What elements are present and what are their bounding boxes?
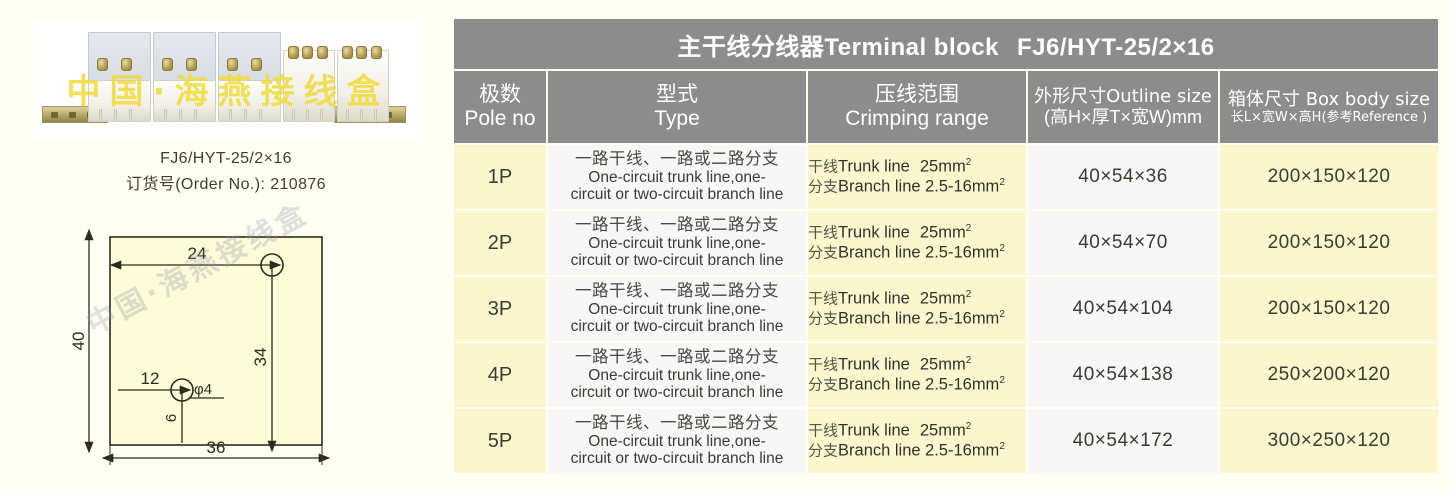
table-row: 5P 一路干线、一路或二路分支 One-circuit trunk line,o… bbox=[454, 409, 1438, 473]
crimp-trunk-sup: 2 bbox=[966, 421, 972, 432]
cell-crimping-range: 干线Trunk line25mm2 分支Branch line 2.5-16mm… bbox=[808, 277, 1026, 341]
crimp-trunk-en: Trunk line bbox=[838, 421, 910, 439]
technical-drawing: 36 40 24 34 12 6 bbox=[72, 222, 372, 472]
crimp-trunk-en: Trunk line bbox=[838, 157, 910, 175]
crimp-branch-value: 2.5-16mm bbox=[925, 441, 999, 459]
product-model-label: FJ6/HYT-25/2×16 bbox=[0, 146, 452, 172]
cell-type: 一路干线、一路或二路分支 One-circuit trunk line,one-… bbox=[548, 409, 806, 473]
cell-type: 一路干线、一路或二路分支 One-circuit trunk line,one-… bbox=[548, 211, 806, 275]
table-title-cn: 主干线分线器 bbox=[677, 33, 824, 61]
crimp-branch-cn: 分支 bbox=[808, 243, 838, 261]
cell-outline-size: 40×54×36 bbox=[1028, 145, 1218, 209]
spec-table: 主干线分线器Terminal blockFJ6/HYT-25/2×16 极数 P… bbox=[452, 17, 1440, 475]
header-box-body-size-cn: 箱体尺寸 Box body size bbox=[1220, 89, 1438, 110]
crimp-branch-value: 2.5-16mm bbox=[925, 243, 999, 261]
header-type-en: Type bbox=[548, 107, 806, 132]
cell-type-en-1: One-circuit trunk line,one- bbox=[548, 235, 806, 252]
product-caption: FJ6/HYT-25/2×16 订货号(Order No.): 210876 bbox=[0, 146, 452, 198]
crimp-branch-value: 2.5-16mm bbox=[925, 309, 999, 327]
cell-type-en-2: circuit or two-circuit branch line bbox=[548, 318, 806, 335]
table-row: 3P 一路干线、一路或二路分支 One-circuit trunk line,o… bbox=[454, 277, 1438, 341]
cell-type-en-2: circuit or two-circuit branch line bbox=[548, 252, 806, 269]
header-pole-no-cn: 极数 bbox=[454, 82, 546, 107]
terminal-body-1 bbox=[88, 80, 151, 122]
dim-36-label: 36 bbox=[207, 438, 226, 457]
crimp-trunk-value: 25mm bbox=[920, 289, 966, 307]
header-type: 型式 Type bbox=[548, 71, 806, 143]
cell-box-body-size: 300×250×120 bbox=[1220, 409, 1438, 473]
dim-6-label: 6 bbox=[163, 414, 180, 422]
cell-crimping-range: 干线Trunk line25mm2 分支Branch line 2.5-16mm… bbox=[808, 145, 1026, 209]
cell-type-cn: 一路干线、一路或二路分支 bbox=[548, 150, 806, 168]
cell-outline-size: 40×54×70 bbox=[1028, 211, 1218, 275]
header-box-body-size: 箱体尺寸 Box body size 长L×宽W×高H(参考Reference … bbox=[1220, 71, 1438, 143]
crimp-branch-value: 2.5-16mm bbox=[925, 177, 999, 195]
table-row: 1P 一路干线、一路或二路分支 One-circuit trunk line,o… bbox=[454, 145, 1438, 209]
header-outline-size-cn: 外形尺寸Outline size bbox=[1028, 86, 1218, 107]
cell-type-en-2: circuit or two-circuit branch line bbox=[548, 384, 806, 401]
cell-pole-no: 4P bbox=[454, 343, 546, 407]
crimp-trunk-en: Trunk line bbox=[838, 223, 910, 241]
cell-type-cn: 一路干线、一路或二路分支 bbox=[548, 348, 806, 366]
cell-box-body-size: 200×150×120 bbox=[1220, 145, 1438, 209]
crimp-branch-sup: 2 bbox=[999, 177, 1005, 188]
crimp-branch-en: Branch line bbox=[838, 309, 921, 327]
table-title-model: FJ6/HYT-25/2×16 bbox=[1017, 34, 1215, 61]
terminal-body-3 bbox=[218, 80, 281, 122]
header-crimping-range-en: Crimping range bbox=[808, 107, 1026, 132]
crimp-branch-cn: 分支 bbox=[808, 375, 838, 393]
header-outline-size-sub: (高H×厚T×宽W)mm bbox=[1028, 107, 1218, 128]
page-root: 中国·海燕接线盒 FJ6/HYT-25/2×16 订货号(Order No.):… bbox=[0, 0, 1452, 492]
header-box-body-size-sub: 长L×宽W×高H(参考Reference ) bbox=[1220, 110, 1438, 125]
crimp-trunk-sup: 2 bbox=[966, 223, 972, 234]
cell-pole-no: 5P bbox=[454, 409, 546, 473]
cell-type-en-2: circuit or two-circuit branch line bbox=[548, 186, 806, 203]
cell-type-cn: 一路干线、一路或二路分支 bbox=[548, 216, 806, 234]
cell-box-body-size: 250×200×120 bbox=[1220, 343, 1438, 407]
cell-type-en-1: One-circuit trunk line,one- bbox=[548, 169, 806, 186]
product-panel: 中国·海燕接线盒 FJ6/HYT-25/2×16 订货号(Order No.):… bbox=[0, 0, 452, 492]
header-crimping-range: 压线范围 Crimping range bbox=[808, 71, 1026, 143]
crimp-trunk-sup: 2 bbox=[966, 289, 972, 300]
crimp-branch-sup: 2 bbox=[999, 243, 1005, 254]
cell-pole-no: 1P bbox=[454, 145, 546, 209]
crimp-trunk-value: 25mm bbox=[920, 223, 966, 241]
crimp-branch-cn: 分支 bbox=[808, 177, 838, 195]
crimp-trunk-value: 25mm bbox=[920, 355, 966, 373]
crimp-branch-cn: 分支 bbox=[808, 441, 838, 459]
cell-type: 一路干线、一路或二路分支 One-circuit trunk line,one-… bbox=[548, 343, 806, 407]
cell-type-en-1: One-circuit trunk line,one- bbox=[548, 367, 806, 384]
crimp-trunk-cn: 干线 bbox=[808, 223, 838, 241]
crimp-branch-en: Branch line bbox=[838, 243, 921, 261]
hole-diameter-label: φ4 bbox=[194, 381, 212, 398]
cell-type-en-2: circuit or two-circuit branch line bbox=[548, 450, 806, 467]
terminal-body-2 bbox=[153, 80, 216, 122]
dim-24-label: 24 bbox=[188, 244, 207, 263]
cell-type-en-1: One-circuit trunk line,one- bbox=[548, 433, 806, 450]
table-row: 4P 一路干线、一路或二路分支 One-circuit trunk line,o… bbox=[454, 343, 1438, 407]
crimp-branch-sup: 2 bbox=[999, 441, 1005, 452]
cell-type-cn: 一路干线、一路或二路分支 bbox=[548, 282, 806, 300]
terminal-body-5 bbox=[337, 50, 389, 122]
table-row: 2P 一路干线、一路或二路分支 One-circuit trunk line,o… bbox=[454, 211, 1438, 275]
table-title-row: 主干线分线器Terminal blockFJ6/HYT-25/2×16 bbox=[454, 19, 1438, 69]
cell-box-body-size: 200×150×120 bbox=[1220, 211, 1438, 275]
crimp-branch-value: 2.5-16mm bbox=[925, 375, 999, 393]
crimp-trunk-cn: 干线 bbox=[808, 355, 838, 373]
crimp-branch-cn: 分支 bbox=[808, 309, 838, 327]
crimp-trunk-en: Trunk line bbox=[838, 289, 910, 307]
crimp-trunk-cn: 干线 bbox=[808, 421, 838, 439]
cell-outline-size: 40×54×138 bbox=[1028, 343, 1218, 407]
cell-box-body-size: 200×150×120 bbox=[1220, 277, 1438, 341]
dim-12-label: 12 bbox=[141, 369, 160, 388]
drawing-svg: 36 40 24 34 12 6 bbox=[72, 222, 372, 472]
crimp-trunk-cn: 干线 bbox=[808, 289, 838, 307]
cell-type-en-1: One-circuit trunk line,one- bbox=[548, 301, 806, 318]
crimp-branch-en: Branch line bbox=[838, 375, 921, 393]
crimp-trunk-sup: 2 bbox=[966, 355, 972, 366]
terminal-body-4 bbox=[283, 50, 335, 122]
crimp-trunk-value: 25mm bbox=[920, 421, 966, 439]
table-header-row: 极数 Pole no 型式 Type 压线范围 Crimping range 外… bbox=[454, 71, 1438, 143]
cell-pole-no: 3P bbox=[454, 277, 546, 341]
table-title-en: Terminal block bbox=[824, 34, 999, 61]
spec-table-container: 主干线分线器Terminal blockFJ6/HYT-25/2×16 极数 P… bbox=[452, 17, 1434, 471]
crimp-trunk-cn: 干线 bbox=[808, 157, 838, 175]
cell-crimping-range: 干线Trunk line25mm2 分支Branch line 2.5-16mm… bbox=[808, 343, 1026, 407]
cell-type: 一路干线、一路或二路分支 One-circuit trunk line,one-… bbox=[548, 277, 806, 341]
crimp-trunk-value: 25mm bbox=[920, 157, 966, 175]
table-title: 主干线分线器Terminal blockFJ6/HYT-25/2×16 bbox=[454, 19, 1438, 69]
product-photo: 中国·海燕接线盒 bbox=[34, 22, 422, 138]
header-pole-no: 极数 Pole no bbox=[454, 71, 546, 143]
cell-type-cn: 一路干线、一路或二路分支 bbox=[548, 414, 806, 432]
cell-crimping-range: 干线Trunk line25mm2 分支Branch line 2.5-16mm… bbox=[808, 409, 1026, 473]
header-crimping-range-cn: 压线范围 bbox=[808, 82, 1026, 107]
crimp-branch-en: Branch line bbox=[838, 177, 921, 195]
header-pole-no-en: Pole no bbox=[454, 107, 546, 132]
cell-outline-size: 40×54×172 bbox=[1028, 409, 1218, 473]
dim-40-label: 40 bbox=[72, 332, 88, 351]
cell-crimping-range: 干线Trunk line25mm2 分支Branch line 2.5-16mm… bbox=[808, 211, 1026, 275]
crimp-branch-sup: 2 bbox=[999, 375, 1005, 386]
header-outline-size: 外形尺寸Outline size (高H×厚T×宽W)mm bbox=[1028, 71, 1218, 143]
crimp-trunk-sup: 2 bbox=[966, 157, 972, 168]
crimp-branch-sup: 2 bbox=[999, 309, 1005, 320]
crimp-branch-en: Branch line bbox=[838, 441, 921, 459]
cell-outline-size: 40×54×104 bbox=[1028, 277, 1218, 341]
product-order-no-label: 订货号(Order No.): 210876 bbox=[0, 172, 452, 198]
dim-34-label: 34 bbox=[251, 348, 270, 367]
crimp-trunk-en: Trunk line bbox=[838, 355, 910, 373]
header-type-cn: 型式 bbox=[548, 82, 806, 107]
cell-type: 一路干线、一路或二路分支 One-circuit trunk line,one-… bbox=[548, 145, 806, 209]
cell-pole-no: 2P bbox=[454, 211, 546, 275]
